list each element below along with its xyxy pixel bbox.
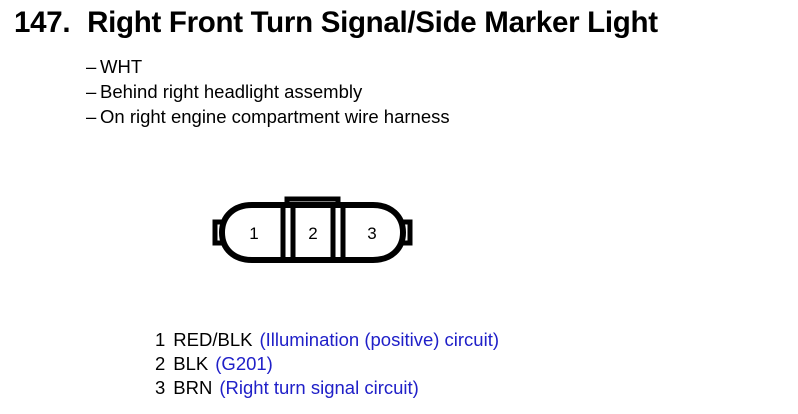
legend-circuit-description: (G201)	[215, 353, 273, 374]
pin-legend: 1RED/BLK(Illumination (positive) circuit…	[155, 328, 499, 400]
dash-icon: –	[86, 54, 100, 79]
list-item: – On right engine compartment wire harne…	[86, 104, 746, 129]
list-item: – Behind right headlight assembly	[86, 79, 746, 104]
detail-list: – WHT – Behind right headlight assembly …	[86, 54, 746, 129]
item-number: 147.	[14, 6, 70, 39]
list-item-label: Behind right headlight assembly	[100, 79, 362, 104]
legend-pin-number: 3	[155, 377, 165, 398]
dash-icon: –	[86, 79, 100, 104]
cavity-label-2: 2	[308, 224, 317, 243]
connector-outline-icon: 1 2 3	[205, 185, 420, 280]
cavity-label-3: 3	[367, 224, 376, 243]
legend-wire-color: BLK	[173, 353, 208, 374]
page-title: 147. Right Front Turn Signal/Side Marker…	[14, 6, 794, 40]
list-item-label: WHT	[100, 54, 142, 79]
title-text: Right Front Turn Signal/Side Marker Ligh…	[87, 6, 658, 39]
legend-circuit-description: (Illumination (positive) circuit)	[259, 329, 499, 350]
legend-wire-color: RED/BLK	[173, 329, 252, 350]
legend-wire-color: BRN	[173, 377, 212, 398]
legend-pin-number: 1	[155, 329, 165, 350]
document-page: 147. Right Front Turn Signal/Side Marker…	[0, 0, 798, 414]
connector-diagram: 1 2 3	[205, 185, 420, 280]
legend-pin-number: 2	[155, 353, 165, 374]
legend-circuit-description: (Right turn signal circuit)	[219, 377, 418, 398]
dash-icon: –	[86, 104, 100, 129]
list-item-label: On right engine compartment wire harness	[100, 104, 450, 129]
legend-row: 2BLK(G201)	[155, 352, 499, 376]
list-item: – WHT	[86, 54, 746, 79]
cavity-label-1: 1	[249, 224, 258, 243]
legend-row: 1RED/BLK(Illumination (positive) circuit…	[155, 328, 499, 352]
legend-row: 3BRN(Right turn signal circuit)	[155, 376, 499, 400]
